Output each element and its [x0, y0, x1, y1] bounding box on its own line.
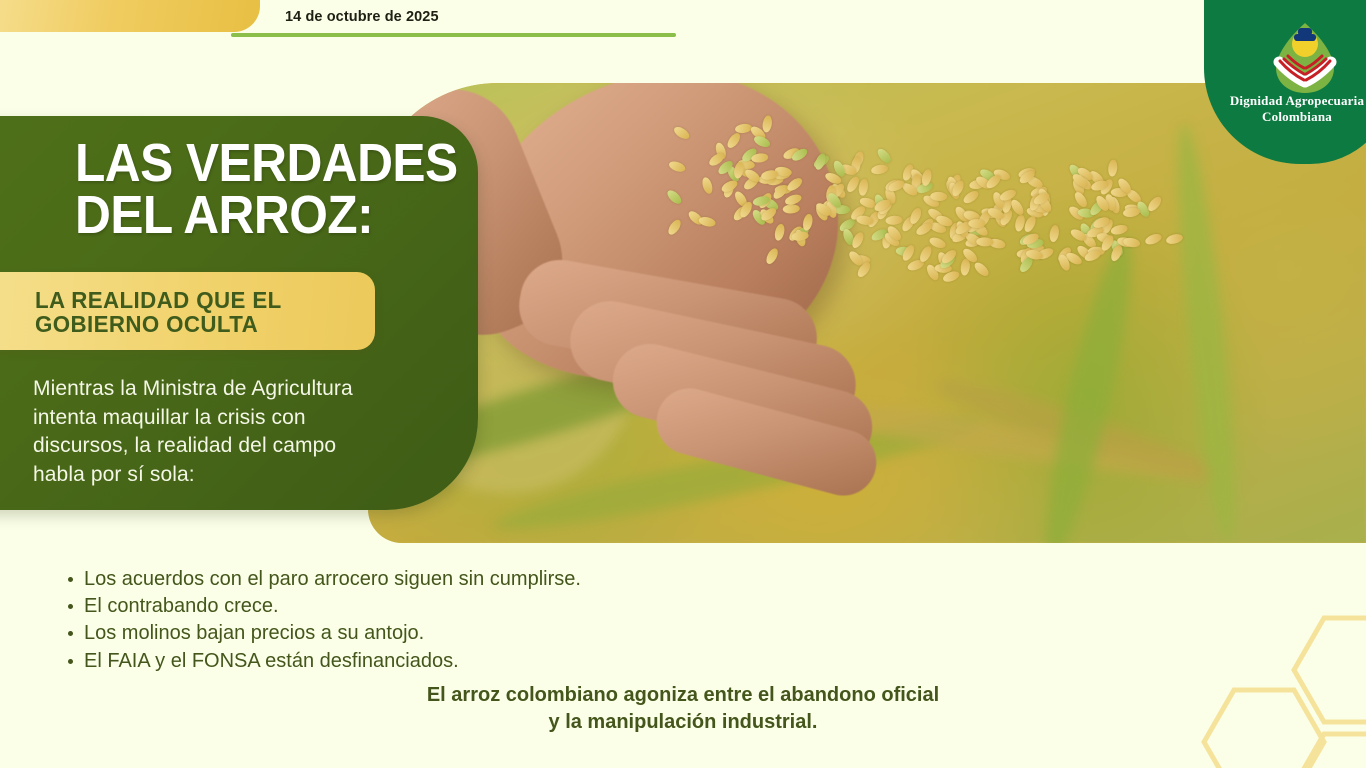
rice-grain — [698, 215, 717, 228]
claims-list: Los acuerdos con el paro arrocero siguen… — [62, 566, 581, 675]
gold-banner-decoration — [0, 0, 260, 32]
rice-grain — [773, 223, 786, 242]
rice-grain — [915, 221, 934, 237]
closing-line-2: y la manipulación industrial. — [549, 711, 818, 733]
rice-grain — [1144, 232, 1163, 246]
rice-grain — [972, 261, 991, 279]
header-rule-divider — [231, 33, 676, 37]
rice-grain — [901, 243, 917, 262]
rice-grain — [1108, 160, 1119, 178]
rice-grain — [764, 247, 780, 266]
rice-grain — [751, 152, 769, 163]
hero-photo — [368, 83, 1366, 543]
page-title: LAS VERDADES DEL ARROZ: — [75, 138, 461, 242]
subtitle-line-1: LA REALIDAD QUE EL — [35, 287, 282, 313]
rice-grain — [732, 161, 744, 179]
subtitle-line-2: GOBIERNO OCULTA — [35, 311, 258, 337]
title-line-2: DEL ARROZ: — [75, 190, 461, 242]
rice-grain — [725, 131, 742, 150]
rice-grain — [976, 237, 993, 247]
rice-grain — [1048, 224, 1060, 242]
title-line-1: LAS VERDADES — [75, 133, 458, 193]
rice-grain — [700, 176, 714, 195]
rice-grain — [665, 188, 684, 206]
lede-paragraph: Mientras la Ministra de Agricultura inte… — [33, 375, 363, 489]
publication-date: 14 de octubre de 2025 — [285, 9, 439, 25]
rice-grain — [802, 213, 814, 232]
dignidad-agropecuaria-emblem-icon — [1266, 22, 1344, 94]
organization-name-line-2: Colombiana — [1262, 109, 1332, 124]
organization-name: Dignidad Agropecuaria Colombiana — [1212, 93, 1366, 126]
rice-grain — [908, 206, 923, 225]
closing-line-1: El arroz colombiano agoniza entre el aba… — [427, 684, 939, 706]
rice-grain — [791, 231, 809, 242]
hexagon-decoration — [1066, 578, 1366, 768]
page-subtitle: LA REALIDAD QUE EL GOBIERNO OCULTA — [35, 288, 365, 337]
closing-statement: El arroz colombiano agoniza entre el aba… — [383, 682, 983, 736]
list-item: Los acuerdos con el paro arrocero siguen… — [84, 566, 581, 593]
rice-grain — [783, 204, 801, 214]
rice-grain — [753, 134, 772, 149]
poster-canvas: 14 de octubre de 2025 LAS VERDADES DEL A… — [0, 0, 1366, 768]
rice-grain — [886, 178, 905, 193]
list-item: El FAIA y el FONSA están desfinanciados. — [84, 648, 581, 675]
rice-grain — [672, 125, 691, 142]
rice-grain — [784, 193, 803, 207]
rice-grain — [930, 191, 947, 201]
list-item: El contrabando crece. — [84, 593, 581, 620]
rice-grain — [961, 189, 980, 206]
rice-grain — [858, 178, 870, 196]
organization-name-line-1: Dignidad Agropecuaria — [1230, 93, 1364, 108]
rice-grain — [870, 163, 888, 175]
list-item: Los molinos bajan precios a su antojo. — [84, 620, 581, 647]
rice-grain — [1165, 233, 1184, 246]
rice-grain — [876, 146, 894, 165]
rice-grain — [668, 160, 687, 174]
rice-grain — [885, 215, 903, 225]
